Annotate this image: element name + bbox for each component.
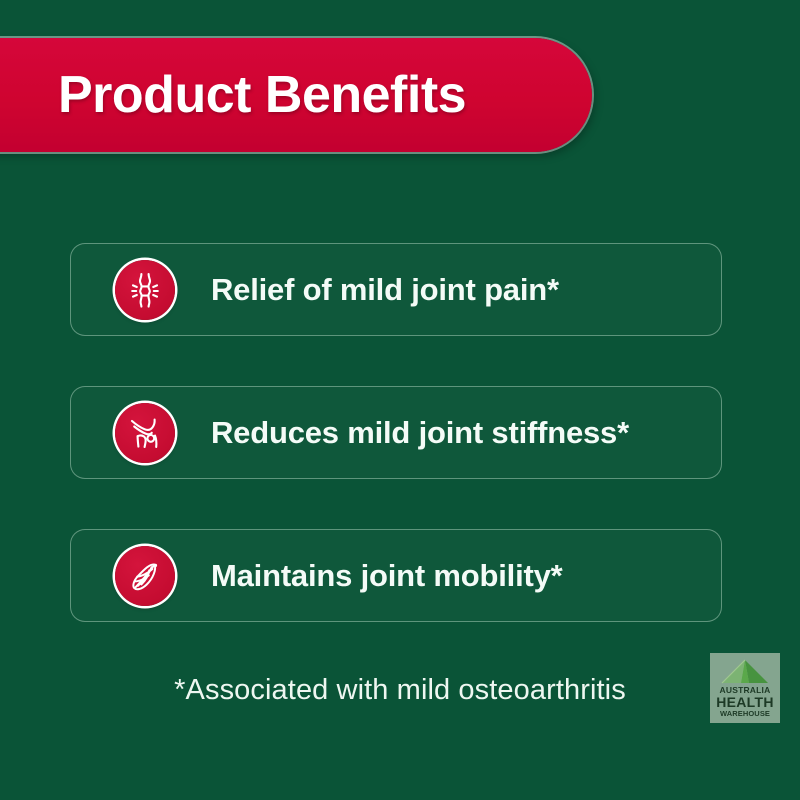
benefit-card: Reduces mild joint stiffness* bbox=[70, 386, 722, 479]
header-banner: Product Benefits bbox=[0, 38, 592, 152]
roof-leaf-icon bbox=[718, 659, 772, 685]
footnote-text: *Associated with mild osteoarthritis bbox=[0, 676, 800, 705]
muscle-icon bbox=[115, 546, 175, 606]
australia-health-warehouse-logo: AUSTRALIA HEALTH WAREHOUSE bbox=[710, 653, 780, 723]
joint-pain-icon bbox=[115, 260, 175, 320]
logo-line-warehouse: WAREHOUSE bbox=[710, 710, 780, 718]
benefit-label: Reduces mild joint stiffness* bbox=[211, 417, 629, 448]
benefit-label: Relief of mild joint pain* bbox=[211, 274, 559, 305]
benefit-card: Maintains joint mobility* bbox=[70, 529, 722, 622]
page-title: Product Benefits bbox=[58, 69, 466, 121]
logo-line-health: HEALTH bbox=[710, 695, 780, 709]
benefit-card: Relief of mild joint pain* bbox=[70, 243, 722, 336]
benefit-label: Maintains joint mobility* bbox=[211, 560, 563, 591]
knee-joint-icon bbox=[115, 403, 175, 463]
benefits-list: Relief of mild joint pain* Reduces mild … bbox=[70, 243, 722, 622]
